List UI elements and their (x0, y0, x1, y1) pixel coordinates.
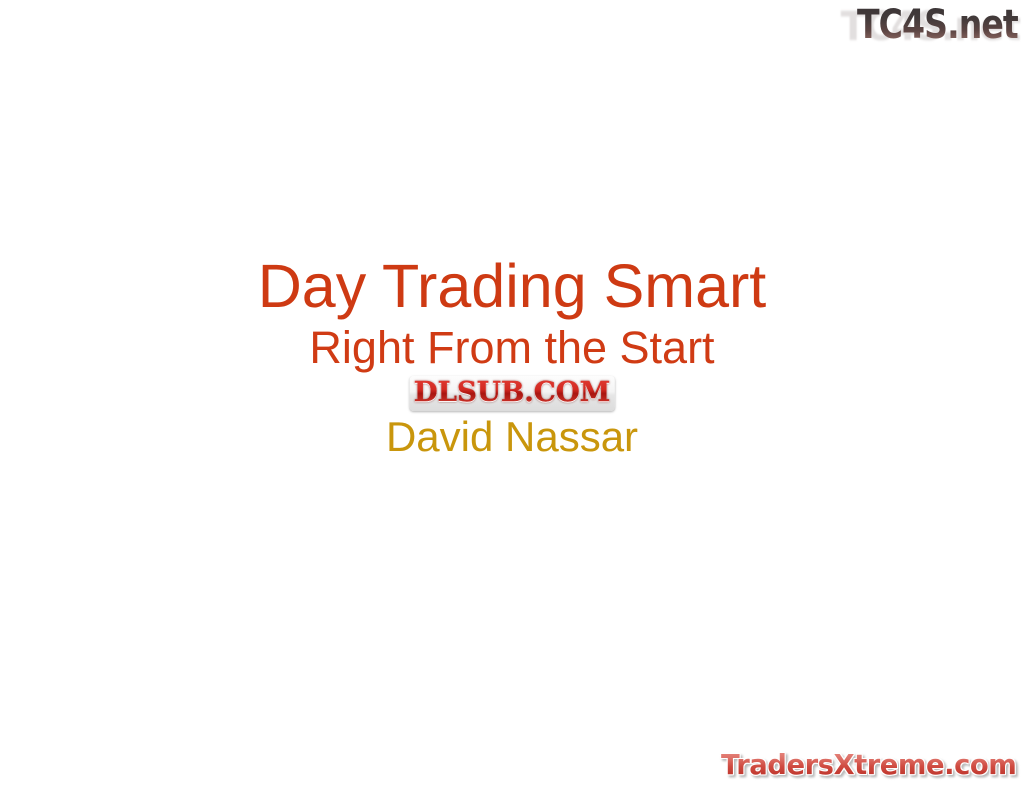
slide-subtitle: Right From the Start (0, 322, 1024, 374)
dlsub-watermark-label: DLSUB.COM (414, 378, 610, 408)
presentation-slide: TC4S.net TC4S.net Day Trading Smart Righ… (0, 0, 1024, 791)
tc4s-net-logo: TC4S.net (857, 2, 1018, 48)
slide-title: Day Trading Smart (0, 252, 1024, 320)
slide-author: David Nassar (0, 412, 1024, 462)
tradersxtreme-watermark: TradersXtreme.com (715, 749, 1016, 781)
tradersxtreme-watermark-label: TradersXtreme.com (721, 749, 1016, 781)
title-block: Day Trading Smart Right From the Start D… (0, 252, 1024, 462)
dlsub-watermark: DLSUB.COM (410, 376, 615, 411)
